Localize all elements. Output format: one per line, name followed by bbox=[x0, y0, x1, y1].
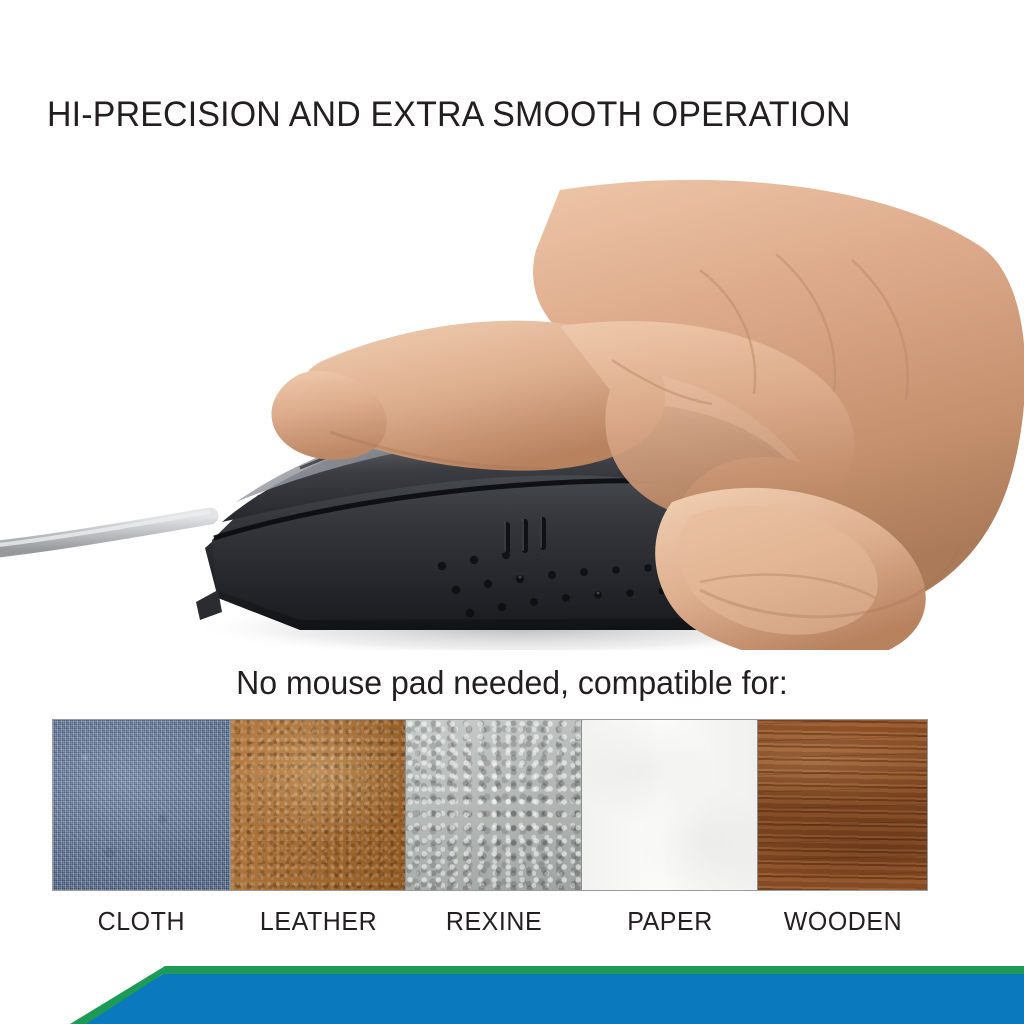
paper-texture bbox=[582, 720, 757, 890]
wooden-texture bbox=[758, 720, 927, 890]
swatch-label-paper: PAPER bbox=[585, 898, 754, 944]
hero-image bbox=[0, 150, 1024, 650]
cloth-texture bbox=[53, 720, 230, 890]
swatch-label-cloth: CLOTH bbox=[56, 898, 228, 944]
bottom-banner bbox=[0, 952, 1024, 1024]
page-title: HI-PRECISION AND EXTRA SMOOTH OPERATION bbox=[47, 92, 935, 136]
swatch-wooden bbox=[757, 720, 927, 890]
compatibility-subtitle: No mouse pad needed, compatible for: bbox=[15, 662, 1008, 704]
swatch-cloth bbox=[53, 720, 230, 890]
swatch-label-wooden: WOODEN bbox=[761, 898, 924, 944]
swatch-leather bbox=[230, 720, 405, 890]
material-swatch-row bbox=[52, 719, 928, 891]
mouse-front-nub bbox=[196, 590, 222, 620]
mouse-in-hand-illustration bbox=[0, 150, 1024, 650]
mouse-cable bbox=[0, 516, 210, 550]
swatch-rexine bbox=[405, 720, 581, 890]
swatch-label-rexine: REXINE bbox=[409, 898, 578, 944]
material-label-row: CLOTH LEATHER REXINE PAPER WOODEN bbox=[52, 898, 928, 944]
swatch-label-leather: LEATHER bbox=[234, 898, 402, 944]
swatch-paper bbox=[581, 720, 757, 890]
leather-texture bbox=[231, 720, 405, 890]
rexine-texture bbox=[406, 720, 581, 890]
banner-blue-fill bbox=[78, 973, 1024, 1024]
product-feature-page: HI-PRECISION AND EXTRA SMOOTH OPERATION bbox=[0, 0, 1024, 1024]
banner-shape bbox=[0, 952, 1024, 1024]
